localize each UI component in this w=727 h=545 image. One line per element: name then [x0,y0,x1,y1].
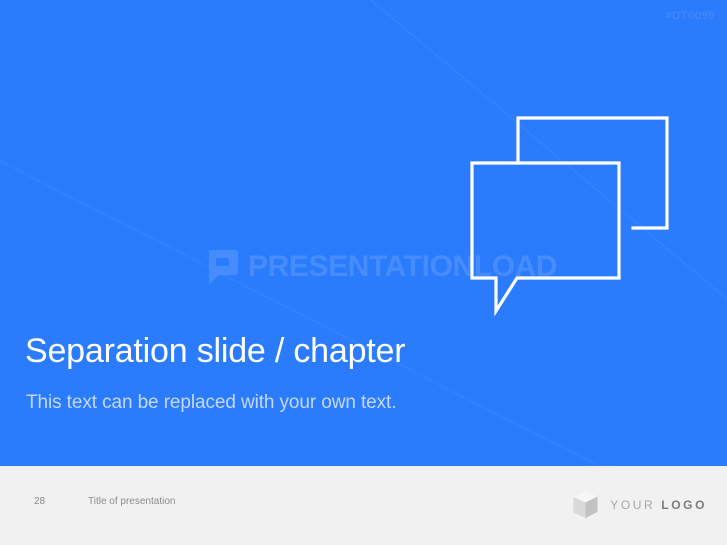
logo-word-your: YOUR [610,498,655,512]
front-bubble-outline [472,163,619,311]
logo-placeholder: YOUR LOGO [572,490,707,520]
presentation-slide: #DT0095 PRESENTATIONLOAD Separation slid… [0,0,727,545]
presentation-title: Title of presentation [88,496,175,507]
speech-bubble-p-icon [205,248,239,286]
logo-text: YOUR LOGO [610,498,707,512]
slide-subtitle: This text can be replaced with your own … [26,392,396,414]
logo-word-logo: LOGO [661,498,707,512]
cube-icon [572,490,599,520]
page-number: 28 [34,496,45,507]
speech-bubbles-graphic [455,100,695,325]
slide-content-area: #DT0095 PRESENTATIONLOAD Separation slid… [0,0,727,466]
slide-footer: 28 Title of presentation YOUR LOGO [0,466,727,545]
slide-title: Separation slide / chapter [25,332,405,371]
back-bubble-outline [518,118,667,228]
product-code-label: #DT0095 [666,10,715,22]
